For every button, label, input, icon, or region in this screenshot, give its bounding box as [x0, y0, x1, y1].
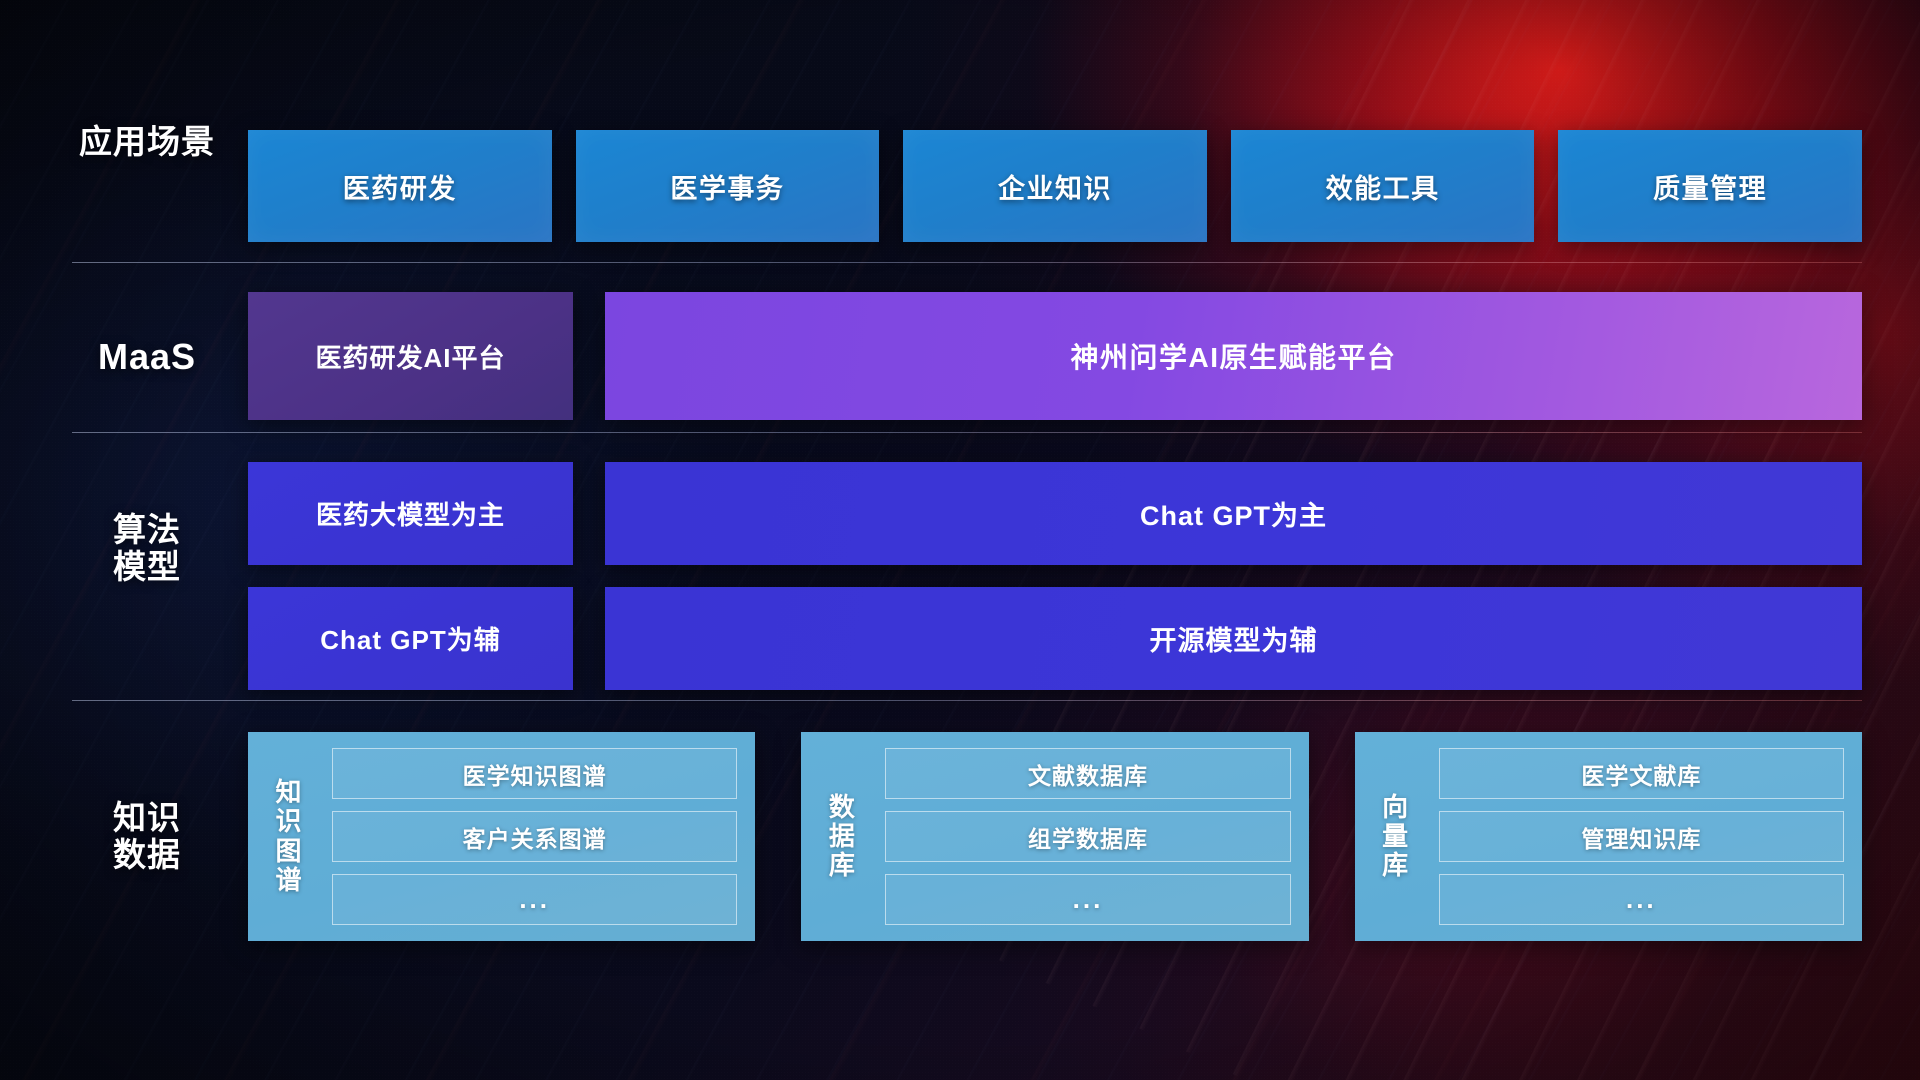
algo-box-medicine-llm-primary[interactable]: 医药大模型为主: [248, 462, 573, 565]
knowledge-item-medical-literature-store[interactable]: 医学文献库: [1439, 748, 1844, 799]
knowledge-group-knowledge-graph: 知 识 图 谱 医学知识图谱 客户关系图谱 ...: [248, 732, 755, 941]
knowledge-group-side-label-database: 数 据 库: [815, 748, 869, 925]
slide-canvas: 应用场景 医药研发 医学事务 企业知识 效能工具 质量管理 MaaS 医药研发A…: [0, 0, 1920, 1080]
knowledge-group-database: 数 据 库 文献数据库 组学数据库 ...: [801, 732, 1308, 941]
side-char: 库: [829, 851, 856, 880]
side-char: 数: [829, 793, 856, 822]
knowledge-group-side-label-vector-store: 向 量 库: [1369, 748, 1423, 925]
side-char: 谱: [275, 866, 302, 895]
side-char: 库: [1382, 851, 1409, 880]
knowledge-items-knowledge-graph: 医学知识图谱 客户关系图谱 ...: [332, 748, 737, 925]
knowledge-item-literature-database[interactable]: 文献数据库: [885, 748, 1290, 799]
divider-maas-algorithm: [72, 432, 1862, 433]
side-char: 图: [275, 837, 302, 866]
app-box-enterprise-knowledge[interactable]: 企业知识: [903, 130, 1207, 242]
app-box-quality-management[interactable]: 质量管理: [1558, 130, 1862, 242]
knowledge-item-management-knowledge-store[interactable]: 管理知识库: [1439, 811, 1844, 862]
side-char: 识: [275, 807, 302, 836]
knowledge-item-omics-database[interactable]: 组学数据库: [885, 811, 1290, 862]
row-label-knowledge-line1: 知识: [72, 800, 222, 837]
knowledge-groups: 知 识 图 谱 医学知识图谱 客户关系图谱 ... 数 据 库: [248, 732, 1862, 941]
side-char: 量: [1382, 822, 1409, 851]
algo-box-opensource-secondary[interactable]: 开源模型为辅: [605, 587, 1862, 690]
algorithm-row-secondary: Chat GPT为辅 开源模型为辅: [248, 587, 1862, 690]
row-label-maas: MaaS: [72, 337, 222, 377]
knowledge-group-side-label-knowledge-graph: 知 识 图 谱: [262, 748, 316, 925]
side-char: 据: [829, 822, 856, 851]
row-label-knowledge-line2: 数据: [72, 837, 222, 874]
maas-boxes: 医药研发AI平台 神州问学AI原生赋能平台: [248, 292, 1862, 420]
knowledge-items-vector-store: 医学文献库 管理知识库 ...: [1439, 748, 1844, 925]
knowledge-item-more-vector[interactable]: ...: [1439, 874, 1844, 925]
algo-box-chatgpt-primary[interactable]: Chat GPT为主: [605, 462, 1862, 565]
knowledge-item-more-database[interactable]: ...: [885, 874, 1290, 925]
app-box-efficiency-tools[interactable]: 效能工具: [1231, 130, 1535, 242]
row-label-algorithm-line2: 模型: [72, 549, 222, 586]
diagram-content: 应用场景 医药研发 医学事务 企业知识 效能工具 质量管理 MaaS 医药研发A…: [0, 0, 1920, 1080]
app-box-medical-affairs[interactable]: 医学事务: [576, 130, 880, 242]
divider-application-maas: [72, 262, 1862, 263]
maas-box-medicine-ai-platform[interactable]: 医药研发AI平台: [248, 292, 573, 420]
algorithm-row-primary: 医药大模型为主 Chat GPT为主: [248, 462, 1862, 565]
algorithm-boxes: 医药大模型为主 Chat GPT为主 Chat GPT为辅 开源模型为辅: [248, 462, 1862, 690]
algo-box-chatgpt-secondary[interactable]: Chat GPT为辅: [248, 587, 573, 690]
row-label-knowledge: 知识 数据: [72, 800, 222, 874]
knowledge-item-more-graph[interactable]: ...: [332, 874, 737, 925]
knowledge-group-vector-store: 向 量 库 医学文献库 管理知识库 ...: [1355, 732, 1862, 941]
app-box-medicine-rd[interactable]: 医药研发: [248, 130, 552, 242]
application-boxes: 医药研发 医学事务 企业知识 效能工具 质量管理: [248, 130, 1862, 242]
maas-box-shenzhou-wenxue-platform[interactable]: 神州问学AI原生赋能平台: [605, 292, 1862, 420]
knowledge-item-customer-relation-graph[interactable]: 客户关系图谱: [332, 811, 737, 862]
side-char: 知: [275, 778, 302, 807]
row-label-algorithm: 算法 模型: [72, 512, 222, 586]
divider-algorithm-knowledge: [72, 700, 1862, 701]
side-char: 向: [1382, 793, 1409, 822]
row-label-algorithm-line1: 算法: [72, 512, 222, 549]
knowledge-item-medical-knowledge-graph[interactable]: 医学知识图谱: [332, 748, 737, 799]
knowledge-items-database: 文献数据库 组学数据库 ...: [885, 748, 1290, 925]
row-label-application: 应用场景: [72, 124, 222, 161]
